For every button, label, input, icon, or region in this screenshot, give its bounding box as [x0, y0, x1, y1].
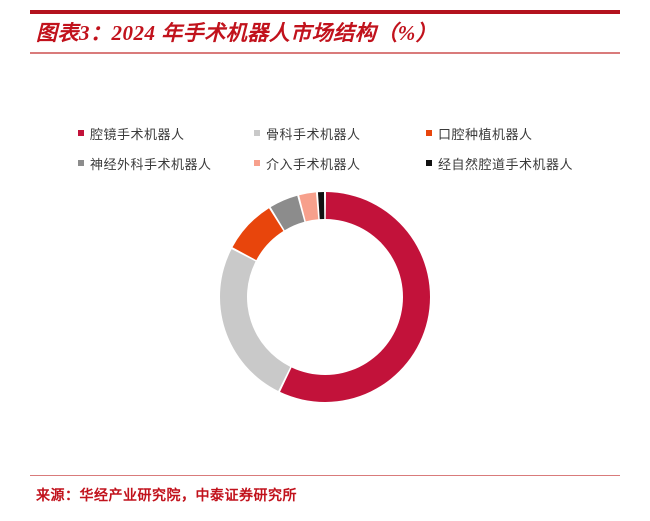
legend-item-5: 经自然腔道手术机器人	[426, 154, 598, 173]
legend-swatch-icon-1	[254, 130, 260, 136]
chart-title-block: 图表3：2024 年手术机器人市场结构（%）	[30, 10, 620, 54]
legend-swatch-icon-0	[78, 130, 84, 136]
chart-legend: 腔镜手术机器人 骨科手术机器人 口腔种植机器人 神经外科手术机器人 介入手术机器…	[78, 118, 598, 178]
legend-label-5: 经自然腔道手术机器人	[438, 154, 573, 173]
title-rule-bottom	[30, 52, 620, 54]
page-title: 图表3：2024 年手术机器人市场结构（%）	[30, 14, 620, 52]
donut-slice-5	[318, 192, 324, 219]
donut-slice-0	[280, 192, 430, 402]
chart-plot-area	[0, 182, 650, 422]
legend-swatch-icon-4	[254, 160, 260, 166]
legend-item-3: 神经外科手术机器人	[78, 154, 254, 173]
legend-label-3: 神经外科手术机器人	[90, 154, 212, 173]
legend-swatch-icon-5	[426, 160, 432, 166]
legend-label-0: 腔镜手术机器人	[90, 124, 185, 143]
legend-label-4: 介入手术机器人	[266, 154, 361, 173]
donut-slice-2	[233, 208, 284, 260]
donut-slice-1	[220, 249, 290, 391]
legend-item-0: 腔镜手术机器人	[78, 124, 254, 143]
donut-chart	[210, 182, 440, 412]
legend-swatch-icon-2	[426, 130, 432, 136]
legend-item-1: 骨科手术机器人	[254, 124, 426, 143]
legend-item-4: 介入手术机器人	[254, 154, 426, 173]
legend-item-2: 口腔种植机器人	[426, 124, 598, 143]
legend-label-2: 口腔种植机器人	[438, 124, 533, 143]
legend-swatch-icon-3	[78, 160, 84, 166]
chart-source-block: 来源：华经产业研究院，中泰证券研究所	[30, 475, 620, 506]
legend-label-1: 骨科手术机器人	[266, 124, 361, 143]
source-text: 来源：华经产业研究院，中泰证券研究所	[30, 476, 620, 505]
